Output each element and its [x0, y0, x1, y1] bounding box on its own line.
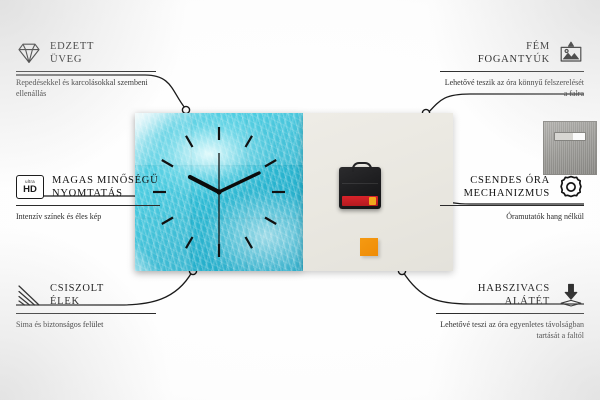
feature-title-line2: ALÁTÉT	[478, 295, 550, 308]
feature-description: Óramutatók hang nélkül	[440, 211, 584, 223]
feature-high-quality-print: ultra HD MAGAS MINŐSÉGŰ NYOMTATÁS Intenz…	[16, 174, 160, 222]
feature-title-line2: MECHANIZMUS	[464, 187, 550, 200]
feature-silent-mechanism: CSENDES ÓRA MECHANIZMUS Óramutatók hang …	[440, 174, 584, 222]
feature-header: FÉM FOGANTYÚK	[440, 40, 584, 67]
feature-title: CSENDES ÓRA MECHANIZMUS	[464, 174, 550, 201]
diamond-icon	[16, 40, 42, 66]
feature-divider	[16, 313, 156, 314]
feature-description: Repedésekkel és karcolásokkal szembeni e…	[16, 77, 156, 100]
polished-edge-icon	[16, 282, 42, 308]
battery	[342, 196, 378, 206]
feature-description: Lehetővé teszi az óra egyenletes távolsá…	[436, 319, 584, 342]
ultra-hd-icon-large-text: HD	[23, 185, 37, 195]
foam-pad-arrow-icon	[558, 282, 584, 308]
feature-title: EDZETT ÜVEG	[50, 40, 94, 67]
feature-title-line2: ÜVEG	[50, 53, 94, 66]
feature-header: CSISZOLT ÉLEK	[16, 282, 156, 309]
product-image	[135, 113, 453, 271]
feature-title-line1: CSISZOLT	[50, 282, 104, 295]
feature-divider	[436, 313, 584, 314]
feature-title: HABSZIVACS ALÁTÉT	[478, 282, 550, 309]
feature-header: EDZETT ÜVEG	[16, 40, 156, 67]
feature-title-line2: ÉLEK	[50, 295, 104, 308]
feature-description: Sima és biztonságos felület	[16, 319, 156, 331]
feature-title: FÉM FOGANTYÚK	[478, 40, 550, 67]
metal-hanger-plate	[543, 121, 597, 175]
feature-divider	[440, 205, 584, 206]
clock-hour-hand	[190, 177, 219, 192]
clock-center-cap	[216, 189, 221, 194]
clock-front-panel	[135, 113, 303, 271]
feature-divider	[16, 71, 156, 72]
feature-description: Lehetővé teszik az óra könnyű felszerelé…	[440, 77, 584, 100]
feature-title-line1: CSENDES ÓRA	[464, 174, 550, 187]
feature-header: HABSZIVACS ALÁTÉT	[436, 282, 584, 309]
feature-header: ultra HD MAGAS MINŐSÉGŰ NYOMTATÁS	[16, 174, 160, 201]
feature-foam-pad: HABSZIVACS ALÁTÉT Lehetővé teszi az óra …	[436, 282, 584, 342]
feature-title-line2: FOGANTYÚK	[478, 53, 550, 66]
feature-header: CSENDES ÓRA MECHANIZMUS	[440, 174, 584, 201]
feature-title-line1: FÉM	[478, 40, 550, 53]
feature-metal-handles: FÉM FOGANTYÚK Lehetővé teszik az óra kön…	[440, 40, 584, 100]
clock-mechanism	[339, 167, 381, 209]
clock-back-panel	[303, 113, 453, 271]
ultra-hd-icon: ultra HD	[16, 175, 44, 199]
feature-description: Intenzív színek és éles kép	[16, 211, 160, 223]
mechanism-seam	[342, 183, 378, 184]
clock-face	[135, 113, 303, 271]
foam-pad	[360, 238, 378, 256]
infographic-root: EDZETT ÜVEG Repedésekkel és karcolásokka…	[0, 0, 600, 400]
mechanism-shaft	[352, 162, 372, 172]
gear-icon	[558, 174, 584, 200]
clock-minute-hand	[219, 173, 259, 192]
feature-divider	[440, 71, 584, 72]
hanger-slot	[554, 132, 586, 141]
feature-polished-edges: CSISZOLT ÉLEK Sima és biztonságos felüle…	[16, 282, 156, 330]
feature-divider	[16, 205, 160, 206]
feature-title-line1: HABSZIVACS	[478, 282, 550, 295]
feature-title-line1: MAGAS MINŐSÉGŰ	[52, 174, 158, 187]
feature-title: MAGAS MINŐSÉGŰ NYOMTATÁS	[52, 174, 158, 201]
picture-hanger-icon	[558, 40, 584, 66]
feature-tempered-glass: EDZETT ÜVEG Repedésekkel és karcolásokka…	[16, 40, 156, 100]
feature-title-line2: NYOMTATÁS	[52, 187, 158, 200]
feature-title: CSISZOLT ÉLEK	[50, 282, 104, 309]
feature-title-line1: EDZETT	[50, 40, 94, 53]
